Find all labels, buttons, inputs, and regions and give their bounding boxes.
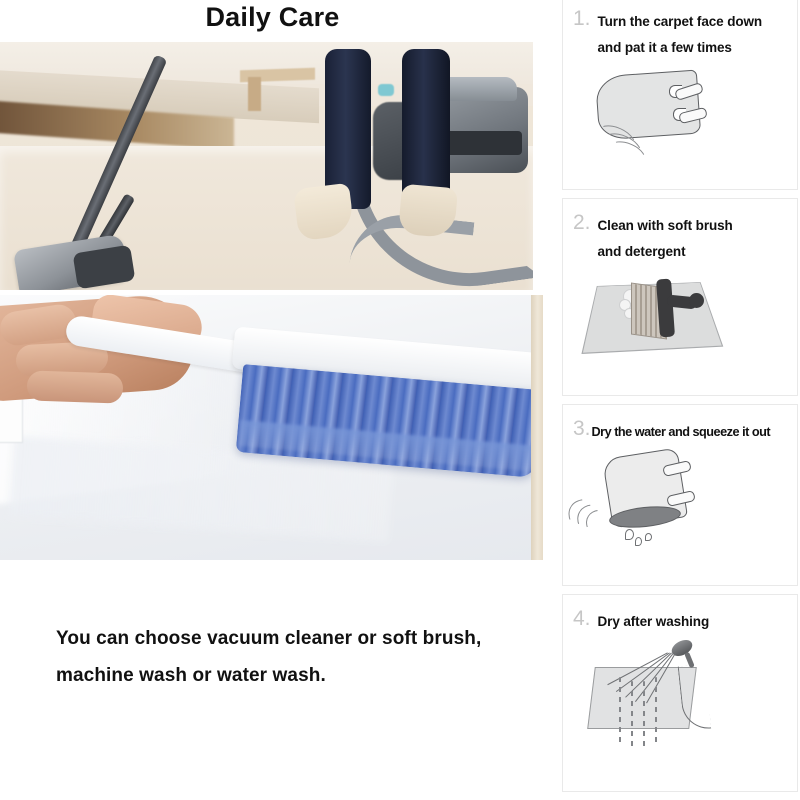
caption-line-1: You can choose vacuum cleaner or soft br… [56,620,526,657]
brush-knob [689,293,704,308]
water-droplet [645,533,652,541]
step-1-text: Turn the carpet face down and pat it a f… [598,9,763,61]
brush-detergent-icon [563,265,797,377]
vacuum-photo [0,42,533,290]
finger [27,370,124,403]
step-2-text: Clean with soft brush and detergent [598,213,733,265]
care-caption: You can choose vacuum cleaner or soft br… [56,620,526,694]
carpet-pat-icon [563,61,797,173]
step-1-header: 1. Turn the carpet face down and pat it … [563,0,797,61]
step-4-text: Dry after washing [598,609,710,635]
page-title: Daily Care [0,2,545,33]
step-card-2[interactable]: 2. Clean with soft brush and detergent [562,198,798,396]
step-3-line-1: Dry the water and squeeze it out [592,419,771,445]
furniture-leg [248,77,261,112]
blow-dry-icon [563,635,797,747]
wood-floor-strip [531,295,543,560]
caption-line-2: machine wash or water wash. [56,657,526,694]
water-wave [619,677,621,743]
step-2-line-2: and detergent [598,239,733,265]
step-card-1[interactable]: 1. Turn the carpet face down and pat it … [562,0,798,190]
step-2-number: 2. [573,213,598,232]
left-column: Daily Care [0,0,556,800]
step-card-3[interactable]: 3. Dry the water and squeeze it out [562,404,798,586]
step-4-header: 4. Dry after washing [563,595,797,635]
brush-photo [0,295,543,560]
squeeze-water-icon [563,445,797,557]
water-droplet [635,537,642,546]
step-1-line-2: and pat it a few times [598,35,763,61]
step-3-text: Dry the water and squeeze it out [592,419,771,445]
water-wave [655,677,657,743]
step-1-line-1: Turn the carpet face down [598,9,763,35]
step-1-number: 1. [573,9,598,28]
teal-accent [378,84,394,96]
step-3-number: 3. [573,419,592,438]
step-card-4[interactable]: 4. Dry after washing [562,594,798,792]
step-4-number: 4. [573,609,598,628]
water-wave [643,681,645,747]
step-2-line-1: Clean with soft brush [598,213,733,239]
step-4-line-1: Dry after washing [598,609,710,635]
water-droplet [625,529,634,540]
step-2-header: 2. Clean with soft brush and detergent [563,199,797,265]
right-leg [402,49,450,199]
water-wave [631,681,633,747]
step-3-header: 3. Dry the water and squeeze it out [563,405,797,445]
steps-column: 1. Turn the carpet face down and pat it … [560,0,800,800]
